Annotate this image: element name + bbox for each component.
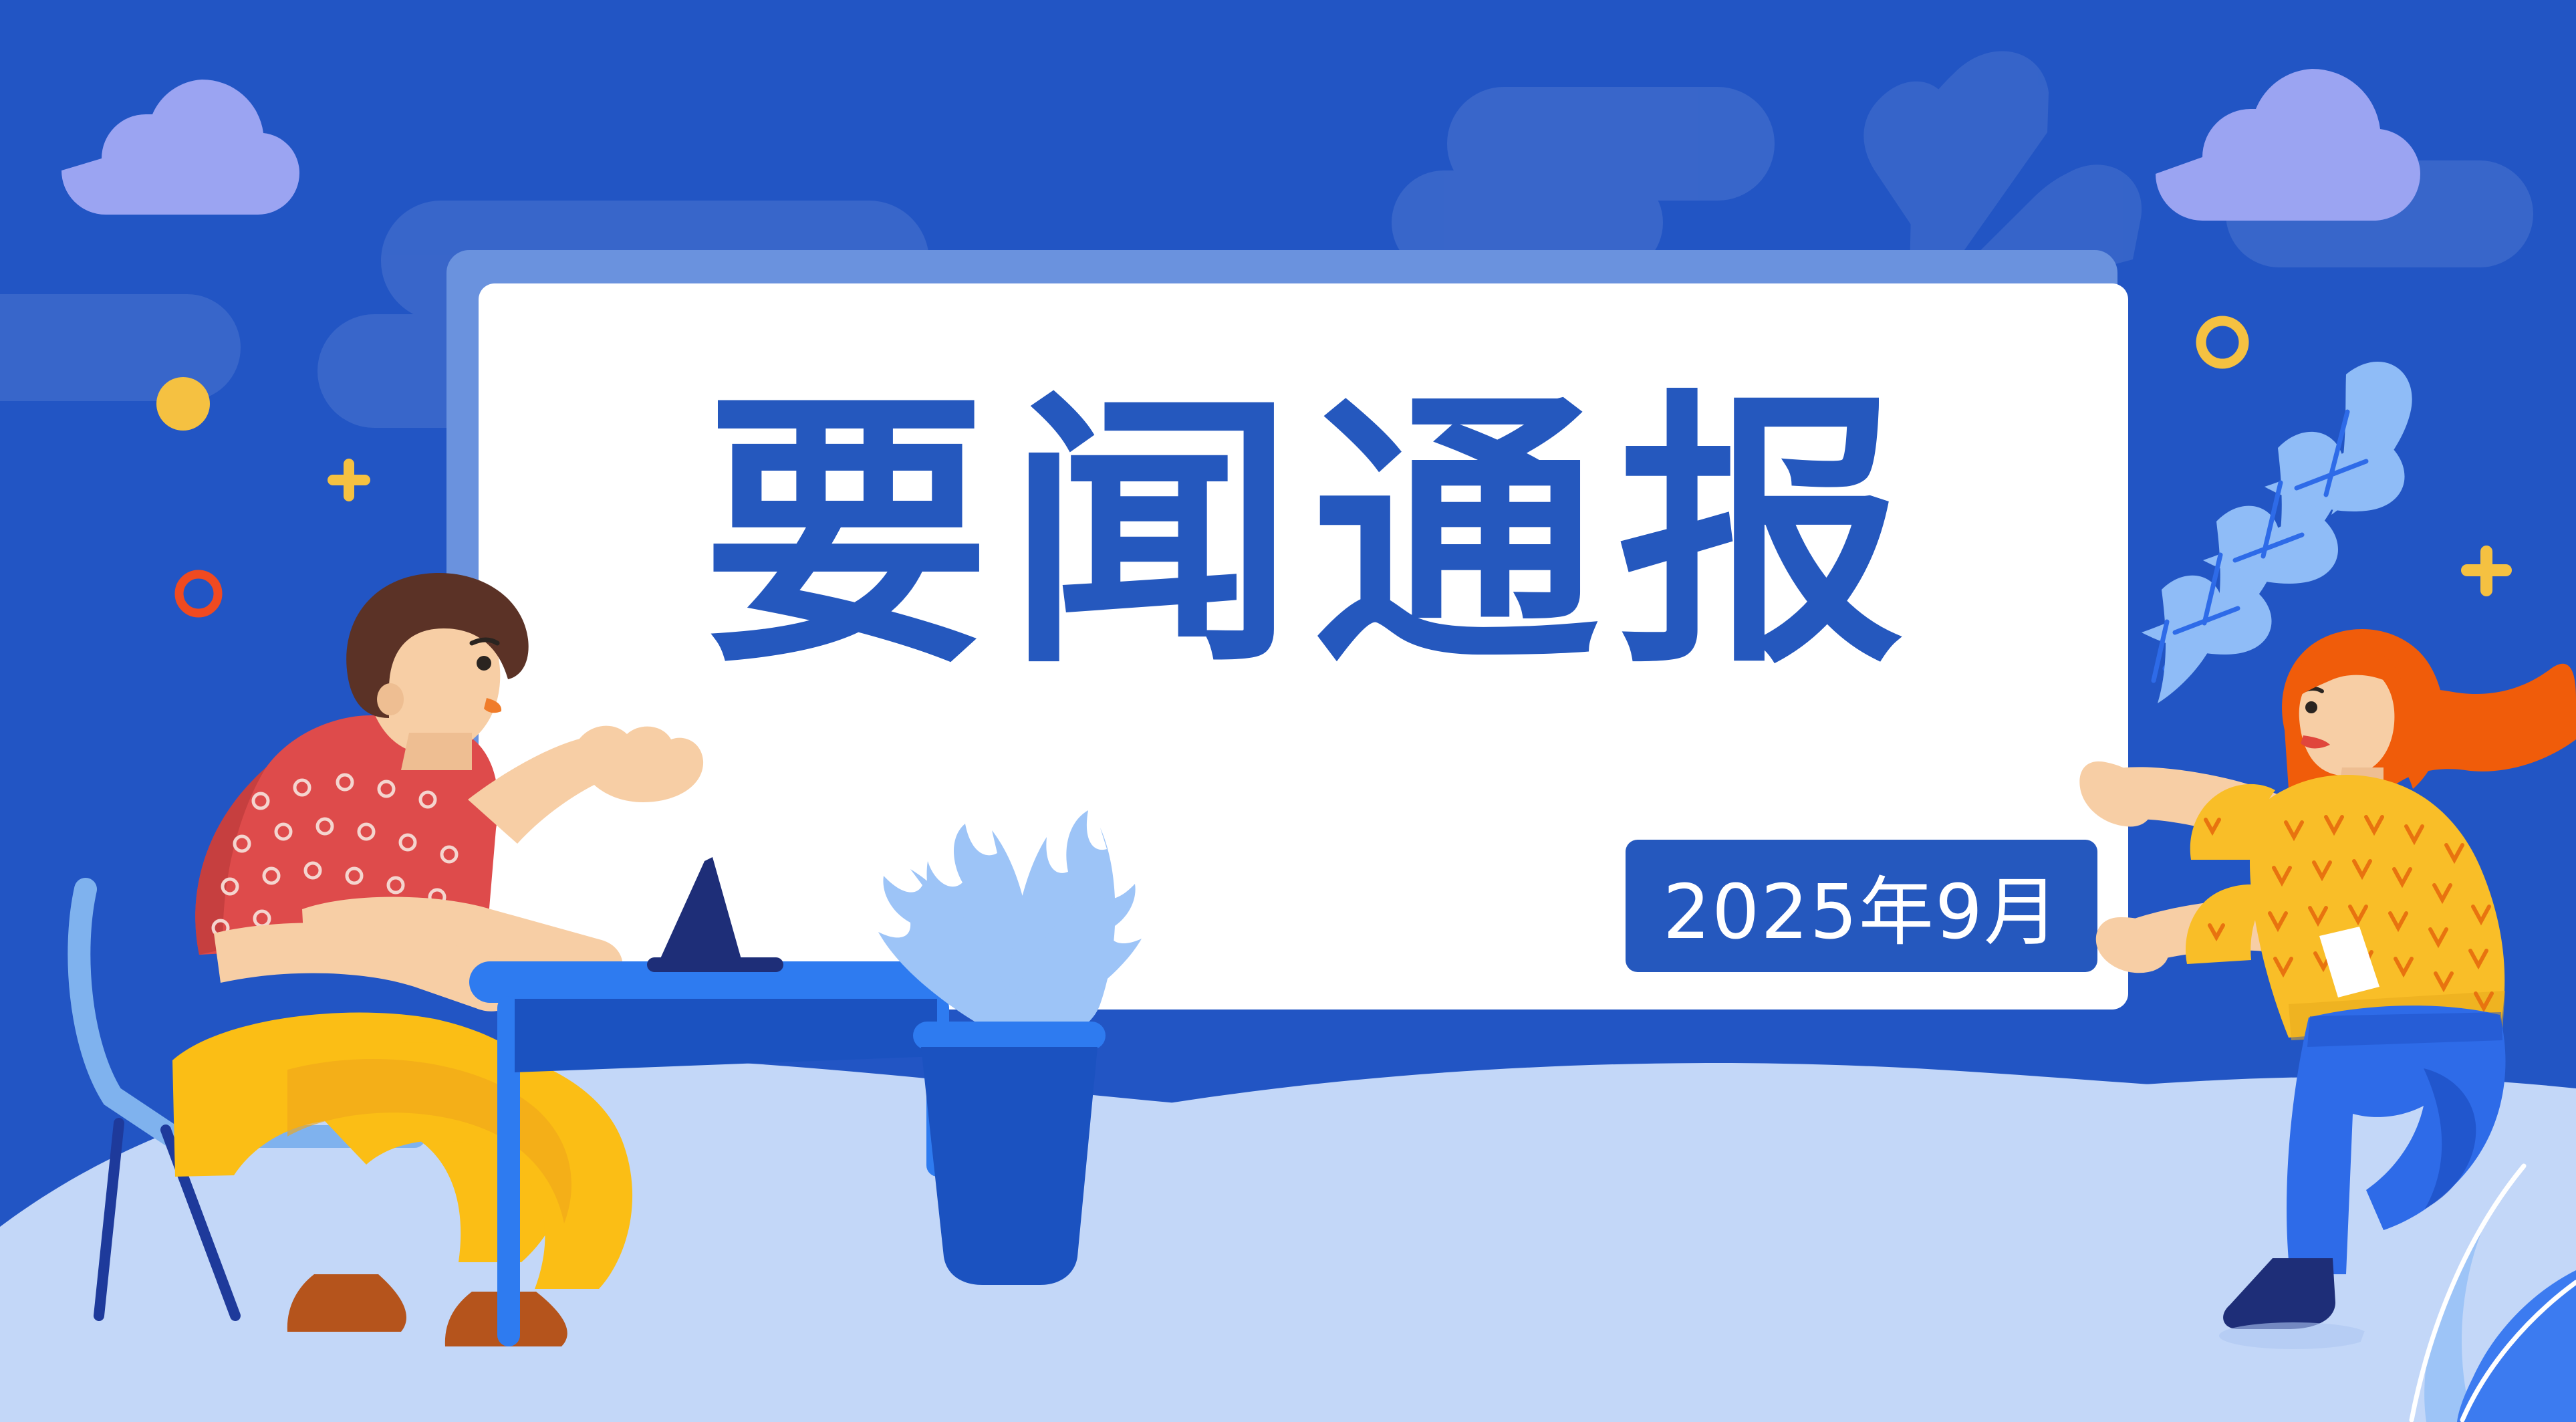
pot-body — [921, 1047, 1098, 1285]
mouth — [484, 698, 501, 713]
raised-hand — [576, 726, 703, 802]
news-banner: 要闻通报 2025年9月 — [0, 0, 2576, 1422]
pot-rim — [913, 1022, 1106, 1050]
eye-right — [2305, 701, 2317, 713]
ear — [377, 683, 404, 715]
neck — [401, 733, 472, 770]
eye — [477, 656, 491, 671]
laptop — [647, 857, 783, 972]
shoe-shadow — [2219, 1322, 2369, 1349]
foreground-layer — [0, 0, 2576, 1422]
